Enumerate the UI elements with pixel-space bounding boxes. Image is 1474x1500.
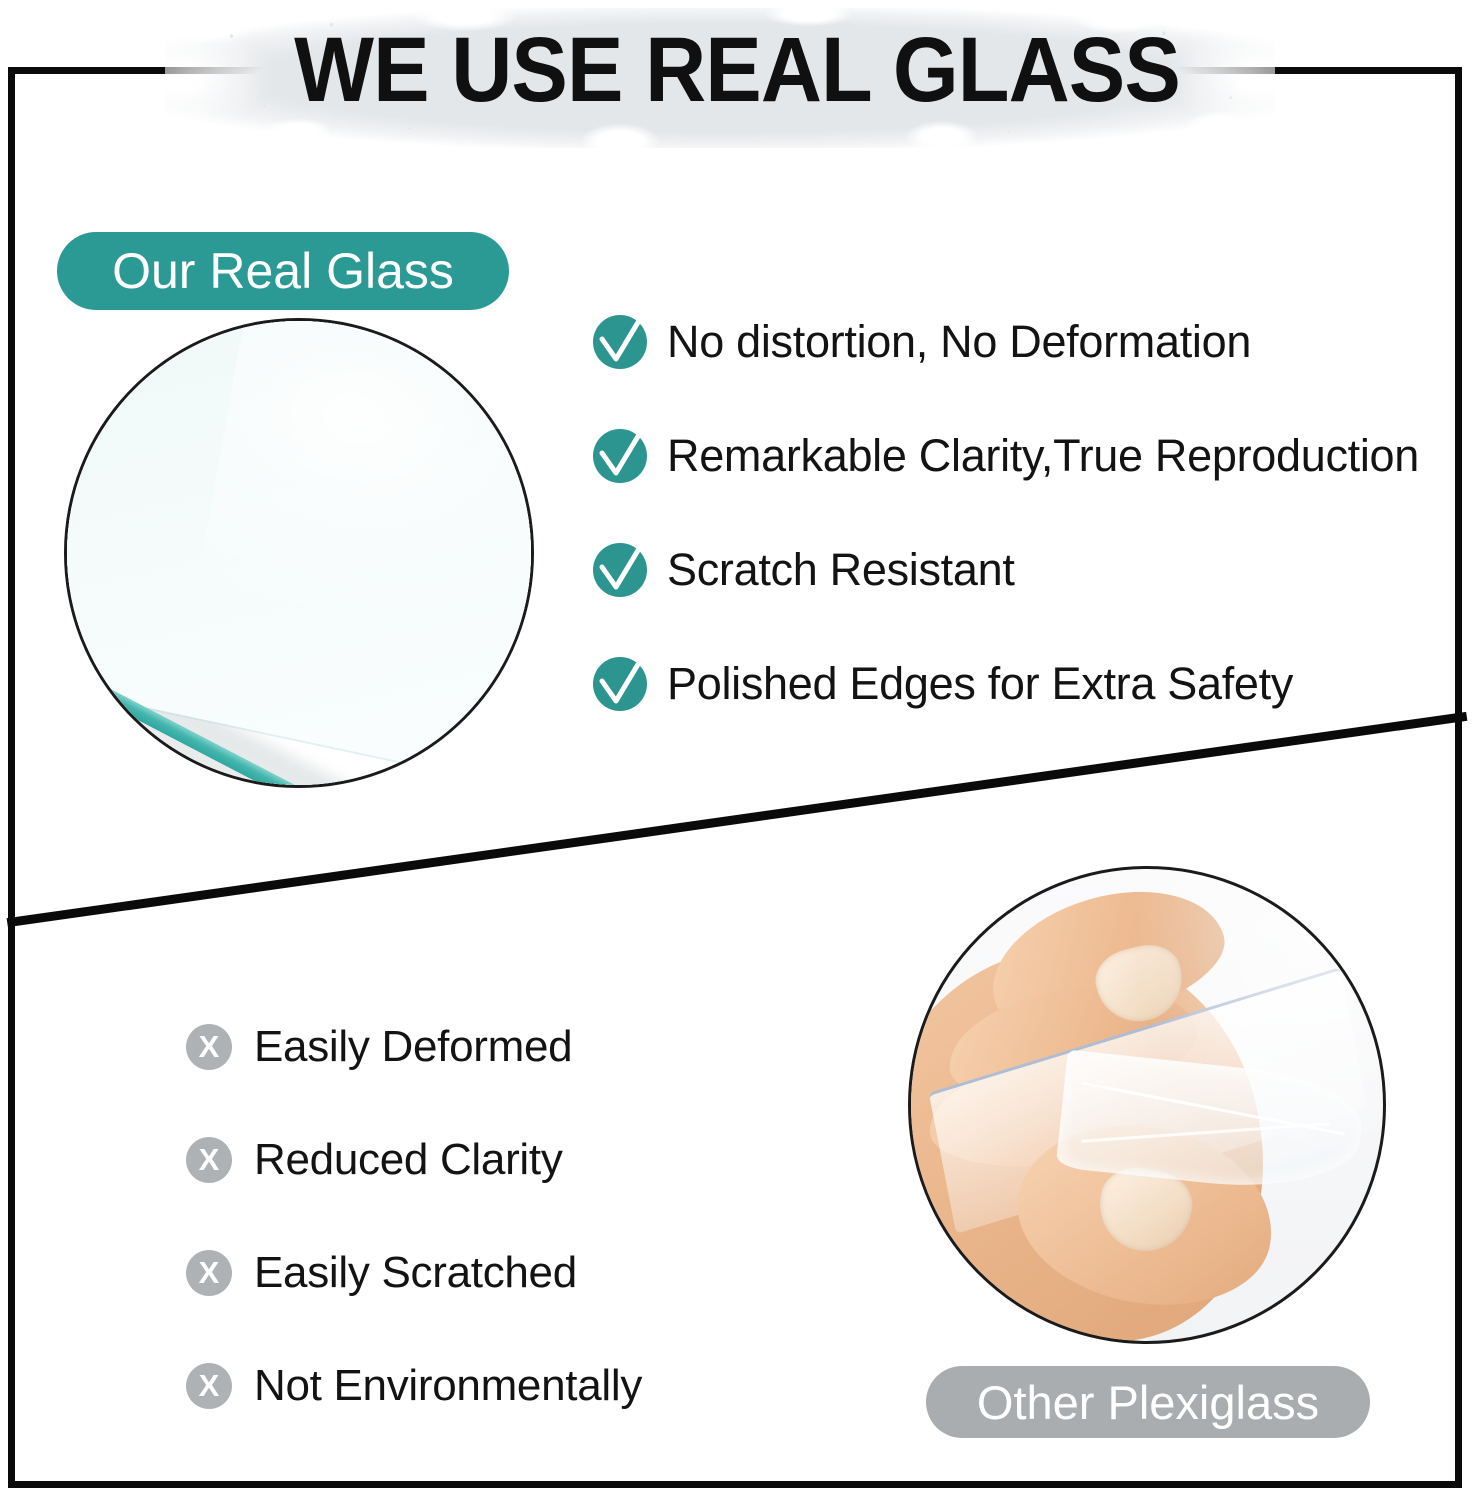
check-icon xyxy=(593,543,647,597)
cons-list: X Easily Deformed X Reduced Clarity X Ea… xyxy=(186,990,746,1442)
plexiglass-photo xyxy=(908,866,1386,1344)
list-item: Remarkable Clarity,True Reproduction xyxy=(593,399,1463,513)
list-item-label: Easily Scratched xyxy=(254,1248,577,1298)
list-item: Scratch Resistant xyxy=(593,513,1463,627)
real-glass-photo xyxy=(64,318,534,788)
pros-list: No distortion, No Deformation Remarkable… xyxy=(593,285,1463,741)
list-item: X Reduced Clarity xyxy=(186,1103,746,1216)
glass-polished-edge-right xyxy=(355,786,534,788)
list-item-label: Polished Edges for Extra Safety xyxy=(667,658,1293,710)
check-icon xyxy=(593,657,647,711)
x-icon: X xyxy=(186,1250,232,1296)
list-item-label: Remarkable Clarity,True Reproduction xyxy=(667,430,1419,482)
plexiglass-gloss-highlight xyxy=(1131,869,1386,1169)
list-item: X Not Environmentally xyxy=(186,1329,746,1442)
list-item-label: Reduced Clarity xyxy=(254,1135,563,1185)
list-item-label: No distortion, No Deformation xyxy=(667,316,1251,368)
x-icon: X xyxy=(186,1024,232,1070)
badge-other-plexiglass: Other Plexiglass xyxy=(926,1366,1370,1438)
list-item-label: Easily Deformed xyxy=(254,1022,572,1072)
badge-our-real-glass-label: Our Real Glass xyxy=(112,242,454,300)
list-item: X Easily Scratched xyxy=(186,1216,746,1329)
page-title: WE USE REAL GLASS xyxy=(59,0,1415,140)
list-item-label: Not Environmentally xyxy=(254,1361,642,1411)
x-icon: X xyxy=(186,1137,232,1183)
check-icon xyxy=(593,429,647,483)
infographic-canvas: Our Real Glass No distortion, No Deforma… xyxy=(0,0,1474,1500)
badge-other-plexiglass-label: Other Plexiglass xyxy=(977,1375,1319,1430)
list-item: X Easily Deformed xyxy=(186,990,746,1103)
badge-our-real-glass: Our Real Glass xyxy=(57,232,509,310)
list-item: No distortion, No Deformation xyxy=(593,285,1463,399)
check-icon xyxy=(593,315,647,369)
list-item-label: Scratch Resistant xyxy=(667,544,1015,596)
list-item: Polished Edges for Extra Safety xyxy=(593,627,1463,741)
x-icon: X xyxy=(186,1363,232,1409)
